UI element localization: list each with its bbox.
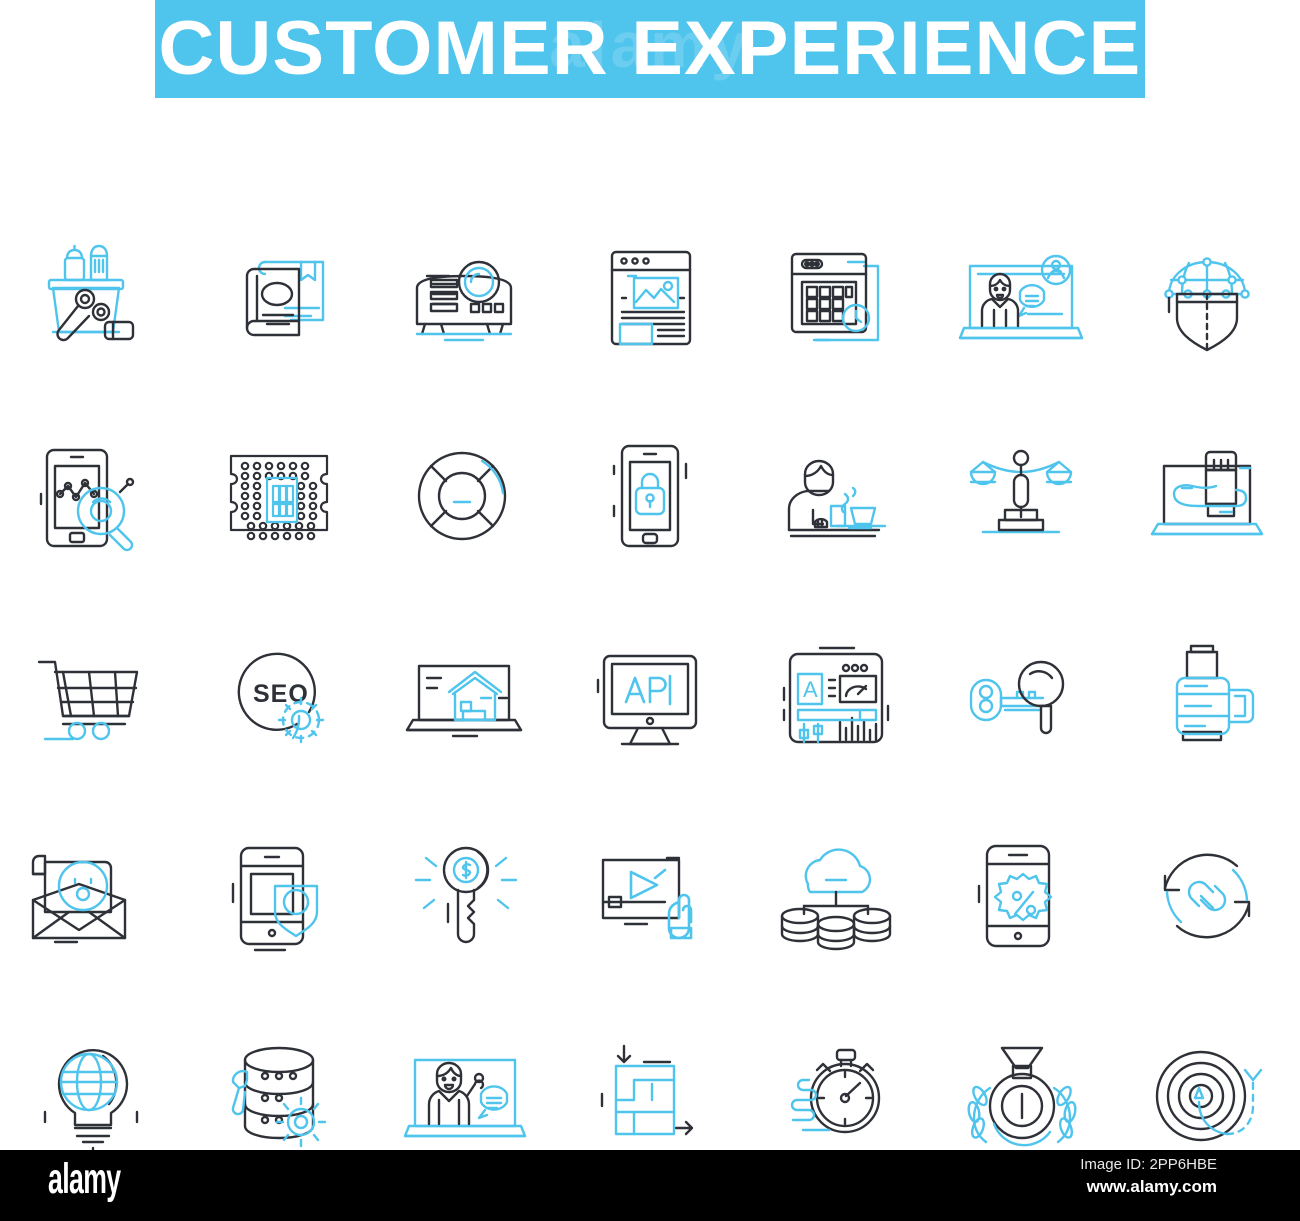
mobile-lock-security-icon: [557, 396, 743, 596]
mobile-discount-icon: [928, 796, 1114, 996]
mobile-analytics-icon: [0, 396, 186, 596]
alamy-website-url[interactable]: www.alamy.com: [1087, 1177, 1217, 1197]
travel-mug-icon: [1114, 596, 1300, 796]
processor-chip-icon: [186, 396, 372, 596]
money-key-icon: [371, 796, 557, 996]
key-magnifier-icon: [928, 596, 1114, 796]
video-player-touch-icon: [557, 796, 743, 996]
svg-text:A: A: [803, 677, 818, 702]
link-refresh-icon: [1114, 796, 1300, 996]
web-page-layout-icon: [557, 196, 743, 396]
email-feedback-icon: [0, 796, 186, 996]
page-title: CUSTOMER EXPERIENCE: [159, 11, 1142, 87]
lifebuoy-support-icon: [371, 396, 557, 596]
title-banner: alamy CUSTOMER EXPERIENCE: [155, 0, 1145, 98]
image-id-label: Image ID: 2PP6HBE: [1080, 1156, 1217, 1173]
api-monitor-icon: [557, 596, 743, 796]
icon-grid: SEO: [0, 196, 1300, 1196]
bookmarked-book-icon: [186, 196, 372, 396]
network-shield-icon: [1114, 196, 1300, 396]
real-estate-laptop-icon: [371, 596, 557, 796]
projector-icon: [371, 196, 557, 396]
cleaning-supplies-icon: [0, 196, 186, 396]
video-support-chat-icon: [928, 196, 1114, 396]
alamy-logo: alamy: [48, 1158, 121, 1201]
calendar-schedule-icon: [743, 196, 929, 396]
balance-scales-icon: [928, 396, 1114, 596]
control-dashboard-icon: A: [743, 596, 929, 796]
alamy-footer-bar: alamy Image ID: 2PP6HBE www.alamy.com: [0, 1150, 1300, 1221]
shopping-cart-icon: [0, 596, 186, 796]
tube-on-laptop-icon: [1114, 396, 1300, 596]
cloud-database-icon: [743, 796, 929, 996]
dining-service-icon: [743, 396, 929, 596]
mobile-protection-icon: [186, 796, 372, 996]
poster-canvas: alamy CUSTOMER EXPERIENCE: [0, 0, 1300, 1221]
seo-gear-icon: SEO: [186, 596, 372, 796]
